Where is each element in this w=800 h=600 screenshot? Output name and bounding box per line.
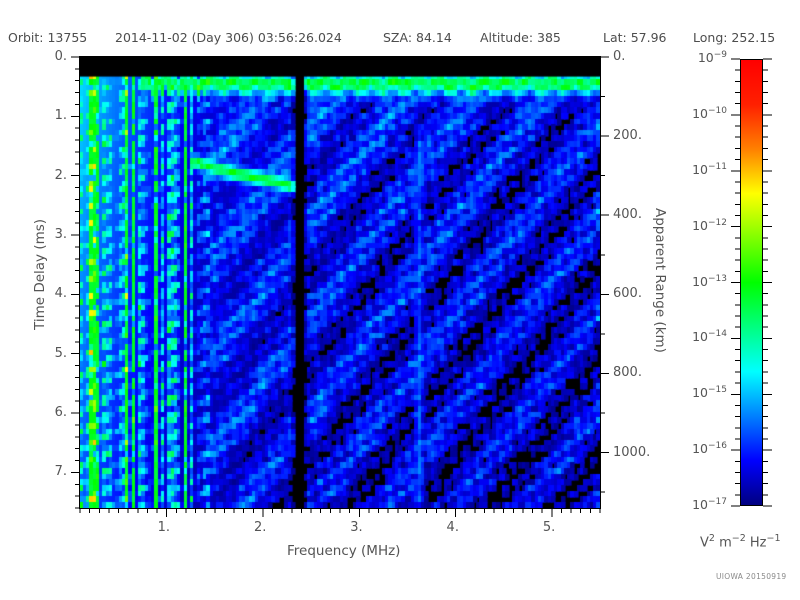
colorbar-tick-label-0: 10−9 [698, 50, 727, 65]
colorbar-tick-label-4: 10−13 [692, 274, 727, 289]
colorbar-tick-label-7: 10−16 [692, 441, 727, 456]
colorbar-units-label: V2 m−2 Hz−1 [700, 533, 781, 550]
colorbar-tick-label-1: 10−10 [692, 106, 727, 121]
ionogram-figure: Orbit: 137552014-11-02 (Day 306) 03:56:2… [0, 0, 800, 600]
colorbar-tick-label-3: 10−12 [692, 218, 727, 233]
colorbar-tick-label-5: 10−14 [692, 329, 727, 344]
colorbar-tick-label-8: 10−17 [692, 497, 727, 512]
credit-text: UIOWA 20150919 [716, 572, 787, 581]
colorbar-tick-marks [0, 0, 800, 600]
colorbar-tick-label-6: 10−15 [692, 385, 727, 400]
colorbar-tick-label-2: 10−11 [692, 162, 727, 177]
